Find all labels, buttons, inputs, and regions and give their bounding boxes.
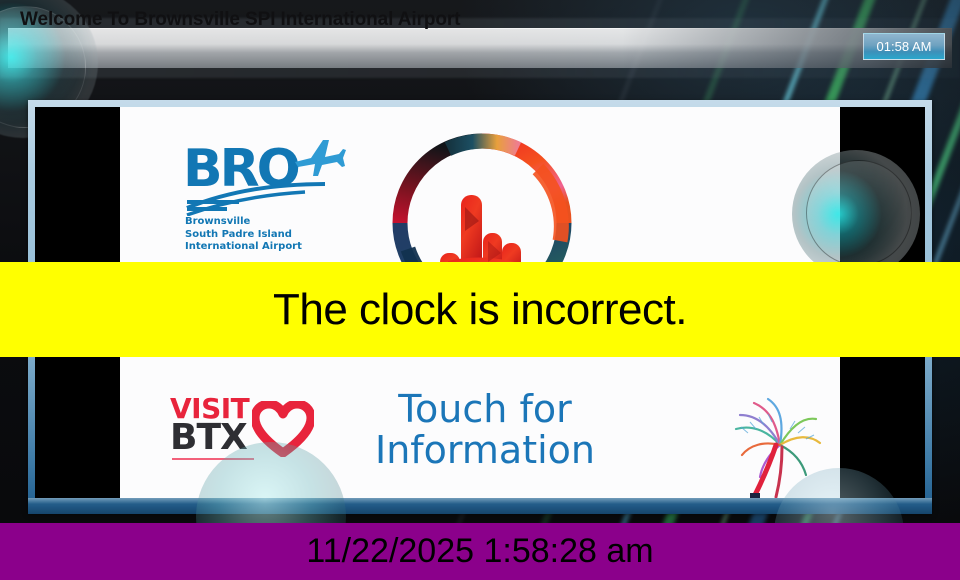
heart-icon bbox=[252, 401, 314, 457]
airplane-icon bbox=[289, 136, 347, 176]
touch-for-information-label[interactable]: Touch for Information bbox=[335, 389, 635, 471]
visit-btx-line2: BTX bbox=[170, 419, 247, 457]
visit-btx-underline bbox=[172, 458, 254, 460]
cta-line1: Touch for bbox=[335, 389, 635, 430]
bro-subtitle-line2: South Padre Island bbox=[185, 229, 302, 242]
bro-subtitle-line3: International Airport bbox=[185, 241, 302, 254]
swoosh-icon bbox=[185, 182, 335, 216]
visit-btx-logo: VISIT BTX bbox=[170, 395, 350, 465]
page-title: Welcome To Brownsville SPI International… bbox=[20, 0, 460, 40]
status-bar: 11/22/2025 1:58:28 am bbox=[0, 523, 960, 580]
screen-root: Welcome To Brownsville SPI International… bbox=[0, 0, 960, 580]
alert-banner[interactable]: The clock is incorrect. bbox=[0, 262, 960, 357]
bro-airport-logo: BRO Brownsville South Padre bbox=[183, 142, 343, 260]
bro-subtitle: Brownsville South Padre Island Internati… bbox=[185, 216, 302, 254]
clock-badge[interactable]: 01:58 AM bbox=[863, 33, 945, 60]
kiosk-frame-gloss bbox=[28, 498, 932, 504]
cta-line2: Information bbox=[335, 430, 635, 471]
alert-message: The clock is incorrect. bbox=[273, 285, 687, 335]
bro-subtitle-line1: Brownsville bbox=[185, 216, 302, 229]
status-datetime: 11/22/2025 1:58:28 am bbox=[306, 532, 653, 571]
palm-tree-icon bbox=[720, 389, 830, 501]
